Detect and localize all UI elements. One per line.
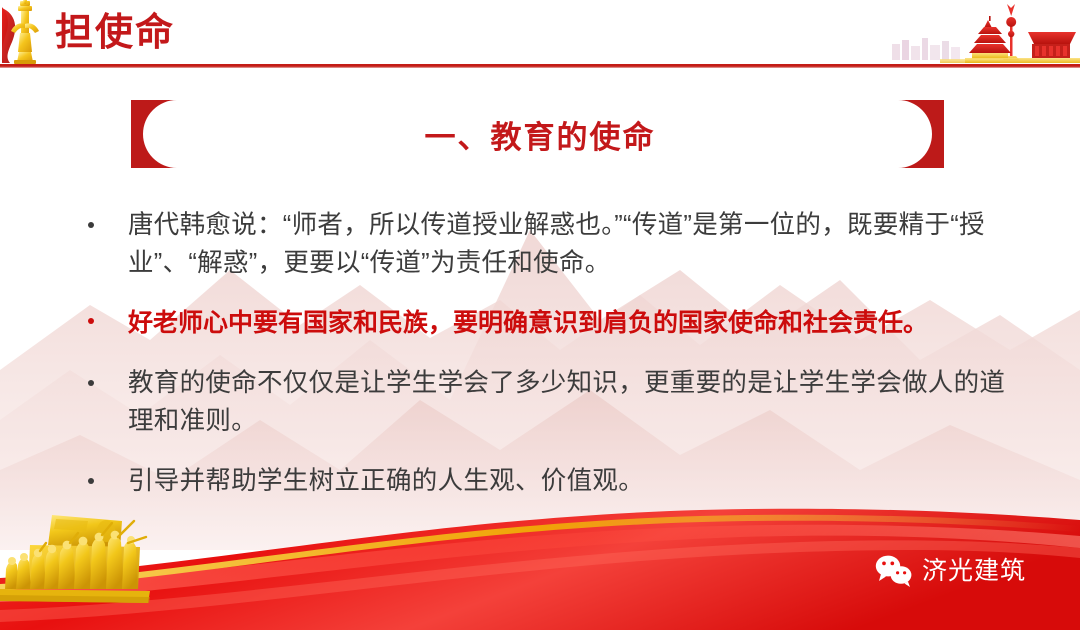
- wechat-account-badge[interactable]: 济光建筑: [875, 554, 1026, 588]
- list-item-text: 引导并帮助学生树立正确的人生观、价值观。: [128, 467, 644, 495]
- right-bracket-ornament-icon: [898, 100, 944, 168]
- content-bullet-list: 唐代韩愈说：“师者，所以传道授业解惑也。”“传道”是第一位的，既要精于“授业”、…: [82, 206, 1012, 522]
- slide-header: 担使命: [0, 0, 1080, 68]
- page-title: 担使命: [55, 8, 175, 58]
- list-item: 教育的使命不仅仅是让学生学会了多少知识，更重要的是让学生学会做人的道理和准则。: [82, 364, 1012, 440]
- bullet-dot-icon: [88, 222, 94, 228]
- list-item-text: 教育的使命不仅仅是让学生学会了多少知识，更重要的是让学生学会做人的道理和准则。: [128, 369, 1005, 435]
- golden-monument-icon: [2, 0, 48, 66]
- list-item: 唐代韩愈说：“师者，所以传道授业解惑也。”“传道”是第一位的，既要精于“授业”、…: [82, 206, 1012, 282]
- section-title-bar: 一、教育的使命: [0, 98, 1080, 170]
- header-divider: [0, 64, 1080, 68]
- list-item: 引导并帮助学生树立正确的人生观、价值观。: [82, 462, 1012, 500]
- golden-relief-monument-icon: [0, 503, 182, 608]
- list-item: 好老师心中要有国家和民族，要明确意识到肩负的国家使命和社会责任。: [82, 304, 1012, 342]
- wechat-account-name: 济光建筑: [922, 556, 1026, 586]
- bullet-dot-icon: [88, 318, 94, 324]
- slide-canvas: 担使命: [0, 0, 1080, 630]
- bullet-dot-icon: [88, 380, 94, 386]
- list-item-text: 好老师心中要有国家和民族，要明确意识到肩负的国家使命和社会责任。: [128, 309, 928, 337]
- list-item-text: 唐代韩愈说：“师者，所以传道授业解惑也。”“传道”是第一位的，既要精于“授业”、…: [128, 211, 985, 277]
- china-landmarks-skyline-icon: [880, 0, 1080, 66]
- wechat-icon: [875, 554, 913, 588]
- bullet-dot-icon: [88, 478, 94, 484]
